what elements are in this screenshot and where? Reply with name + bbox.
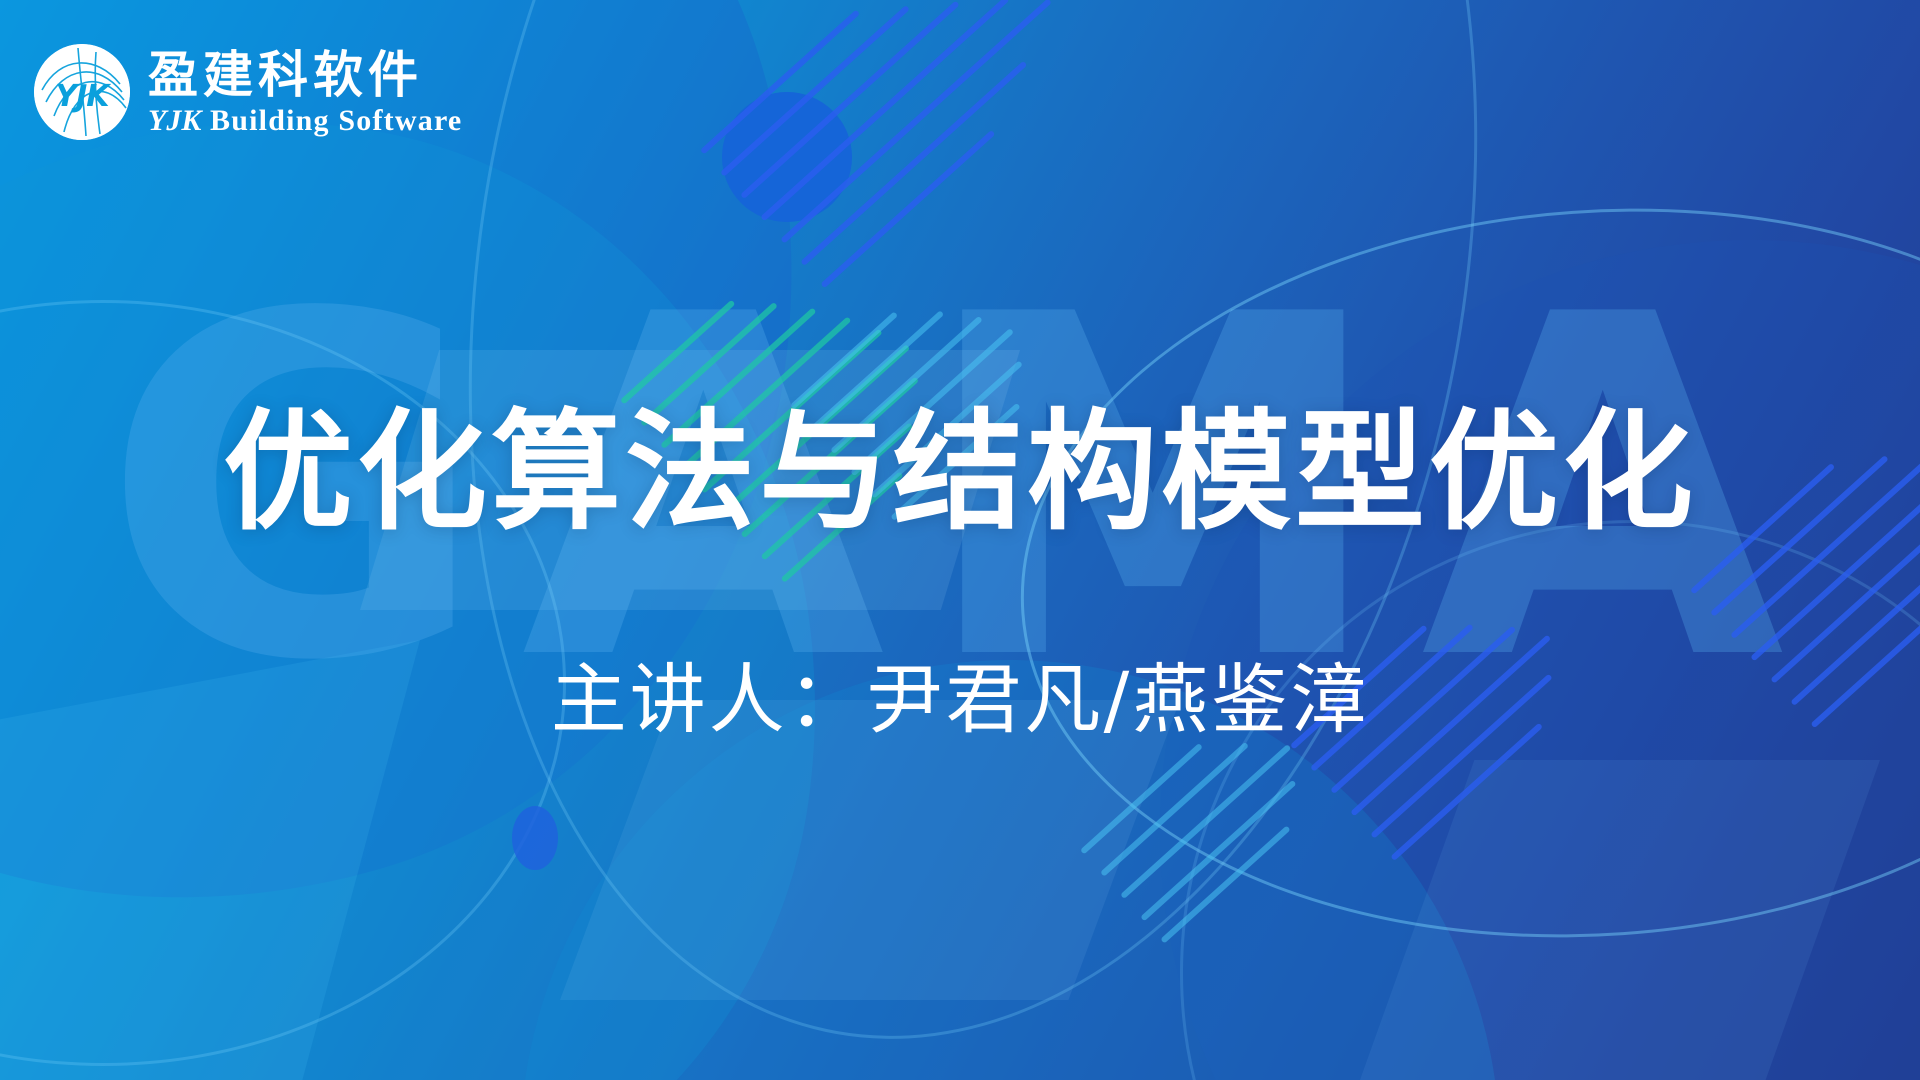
brand-logo-text: 盈建科软件 YJK Building Software [148,48,462,137]
background-dot-accent [512,806,558,870]
yjk-circle-logo-icon: YJK [34,44,130,140]
svg-text:YJK: YJK [55,79,112,114]
brand-logo[interactable]: YJK 盈建科软件 YJK Building Software [34,44,462,140]
brand-name-en-mark: YJK [148,104,201,137]
title-slide: GAMA [0,0,1920,1080]
brand-name-en: YJK Building Software [148,104,462,137]
brand-name-cn: 盈建科软件 [148,48,462,102]
brand-name-en-rest: Building Software [201,104,462,137]
background-decoration: GAMA [0,0,1920,1080]
